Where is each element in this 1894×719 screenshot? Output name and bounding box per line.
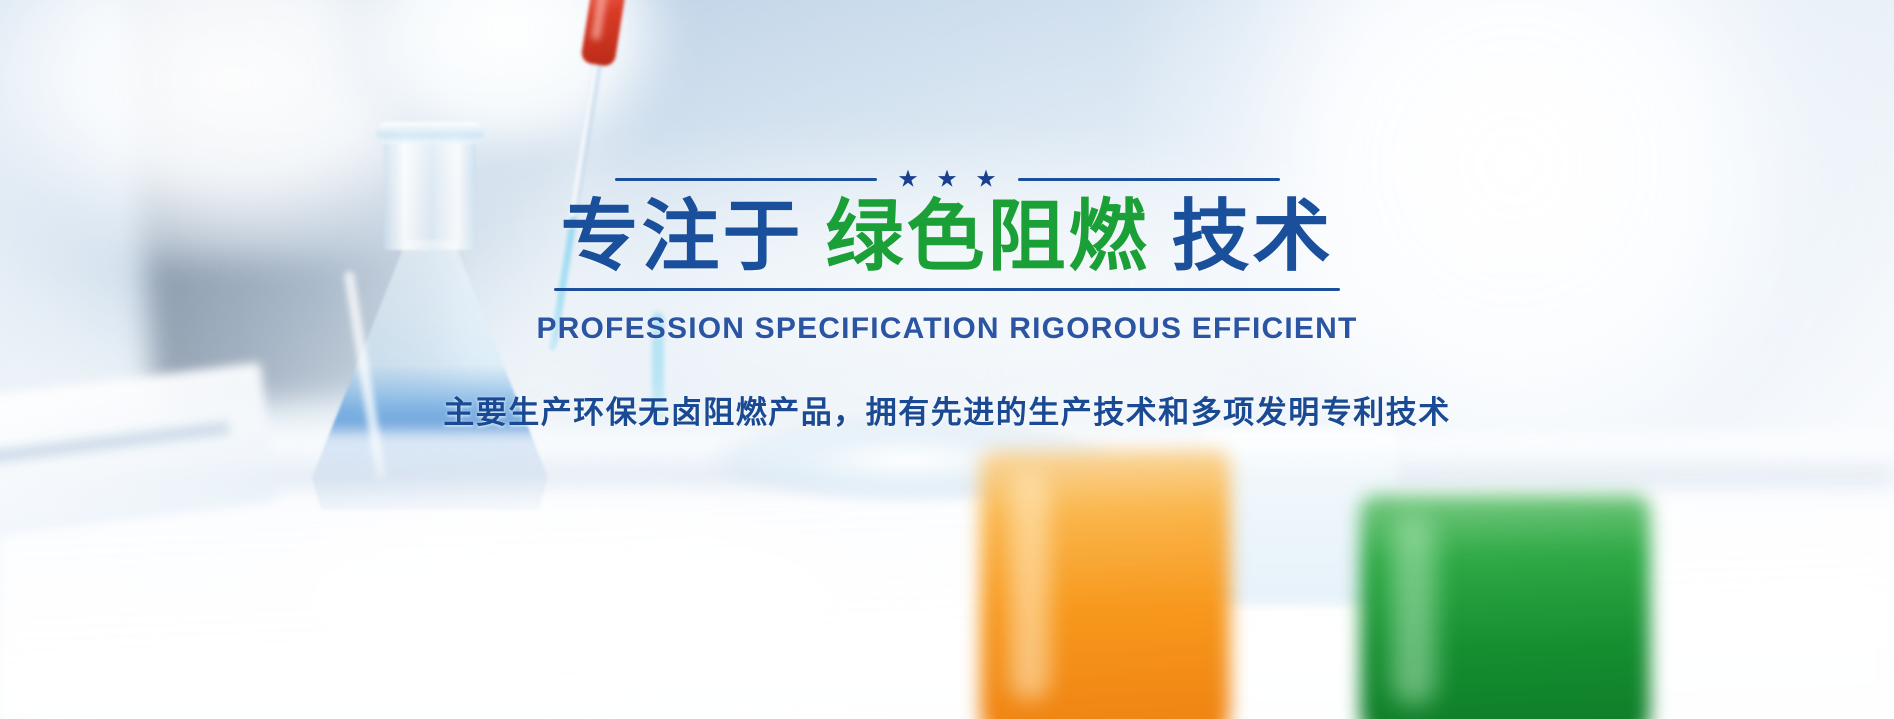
- divider-rule-left: [615, 178, 877, 181]
- star-group: [877, 170, 1018, 189]
- headline-part-3: 技术: [1172, 192, 1334, 280]
- banner-content: 专注于绿色阻燃技术 PROFESSION SPECIFICATION RIGOR…: [0, 0, 1894, 719]
- headline-part-2: 绿色阻燃: [825, 192, 1149, 280]
- star-icon: [977, 170, 996, 189]
- star-icon: [938, 170, 957, 189]
- subtitle-english: PROFESSION SPECIFICATION RIGOROUS EFFICI…: [536, 312, 1357, 346]
- hero-banner: 专注于绿色阻燃技术 PROFESSION SPECIFICATION RIGOR…: [0, 0, 1894, 719]
- headline-part-1: 专注于: [560, 192, 803, 280]
- headline-underline: [554, 288, 1340, 291]
- decorative-divider: [615, 170, 1280, 188]
- headline: 专注于绿色阻燃技术: [560, 194, 1333, 280]
- tagline-chinese: 主要生产环保无卤阻燃产品，拥有先进的生产技术和多项发明专利技术: [443, 387, 1451, 432]
- divider-rule-right: [1018, 178, 1280, 181]
- star-icon: [899, 170, 918, 189]
